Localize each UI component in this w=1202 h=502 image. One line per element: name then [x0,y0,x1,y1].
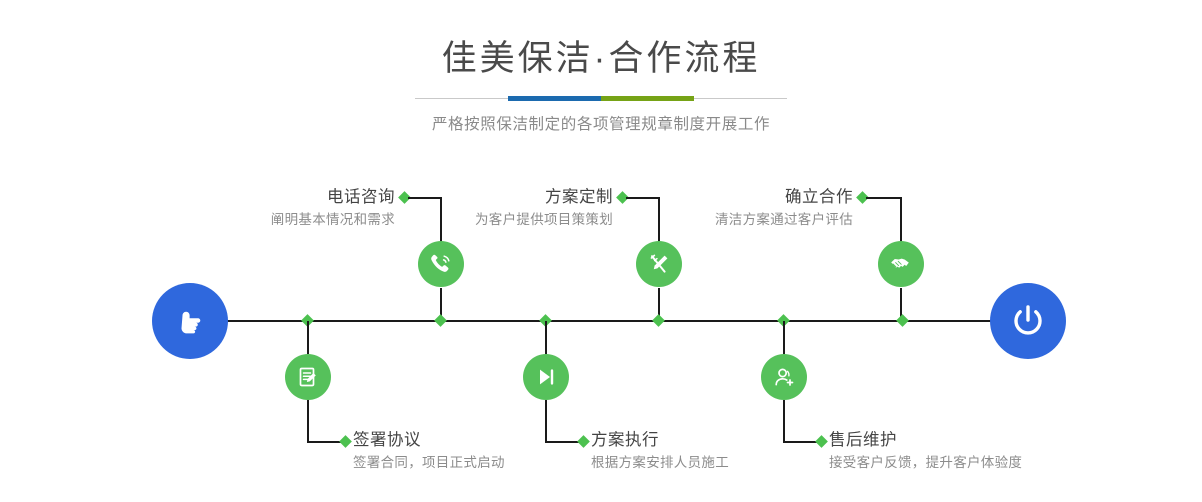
connector-h-5 [866,197,901,199]
step-title-4: 方案执行 [591,429,821,451]
step-title-6: 售后维护 [829,429,1089,451]
pencil-ruler-icon [646,251,672,277]
handshake-icon [888,251,914,277]
timeline-end-node [990,283,1066,359]
axis-marker-6 [896,314,909,327]
step-desc-6: 接受客户反馈，提升客户体验度 [829,453,1089,473]
step-title-5: 确立合作 [645,186,853,208]
connector-h-6 [783,441,819,443]
divider-segment-green [601,96,694,101]
timeline-start-node [152,283,228,359]
step-label-4: 方案执行 根据方案安排人员施工 [591,429,821,473]
process-flow-infographic: 佳美保洁·合作流程 严格按照保洁制定的各项管理规章制度开展工作 电话咨询 阐明基… [0,0,1202,502]
axis-marker-4 [652,314,665,327]
connector-stem-6 [783,321,785,354]
page-title: 佳美保洁·合作流程 [0,36,1202,82]
step-desc-3: 为客户提供项目策策划 [405,210,613,230]
connector-stem-2 [307,321,309,354]
step-label-3: 方案定制 为客户提供项目策策划 [405,186,613,230]
divider-segment-blue [508,96,601,101]
connector-h-2 [307,441,343,443]
label-marker-2 [339,435,352,448]
phone-call-icon [428,251,454,277]
step-desc-5: 清洁方案通过客户评估 [645,210,853,230]
title-divider [415,96,787,102]
step-node-1 [418,241,464,287]
connector-h-4 [545,441,581,443]
axis-marker-2 [434,314,447,327]
step-label-6: 售后维护 接受客户反馈，提升客户体验度 [829,429,1089,473]
pointing-hand-icon [170,301,210,341]
connector-v-4 [545,400,547,442]
step-desc-2: 签署合同，项目正式启动 [353,453,583,473]
step-node-4 [523,354,569,400]
step-node-5 [878,241,924,287]
connector-stem-4 [545,321,547,354]
step-title-3: 方案定制 [405,186,613,208]
step-node-2 [285,354,331,400]
step-node-3 [636,241,682,287]
step-desc-1: 阐明基本情况和需求 [190,210,395,230]
step-label-1: 电话咨询 阐明基本情况和需求 [190,186,395,230]
header: 佳美保洁·合作流程 严格按照保洁制定的各项管理规章制度开展工作 [0,0,1202,136]
connector-v-2 [307,400,309,442]
step-title-1: 电话咨询 [190,186,395,208]
document-edit-icon [295,364,321,390]
power-icon [1006,299,1050,343]
step-node-6 [761,354,807,400]
play-skip-icon [533,364,559,390]
step-label-5: 确立合作 清洁方案通过客户评估 [645,186,853,230]
step-label-2: 签署协议 签署合同，项目正式启动 [353,429,583,473]
connector-v-5 [900,197,902,243]
page-subtitle: 严格按照保洁制定的各项管理规章制度开展工作 [0,114,1202,136]
customer-support-icon [771,364,797,390]
step-desc-4: 根据方案安排人员施工 [591,453,821,473]
connector-v-6 [783,400,785,442]
step-title-2: 签署协议 [353,429,583,451]
